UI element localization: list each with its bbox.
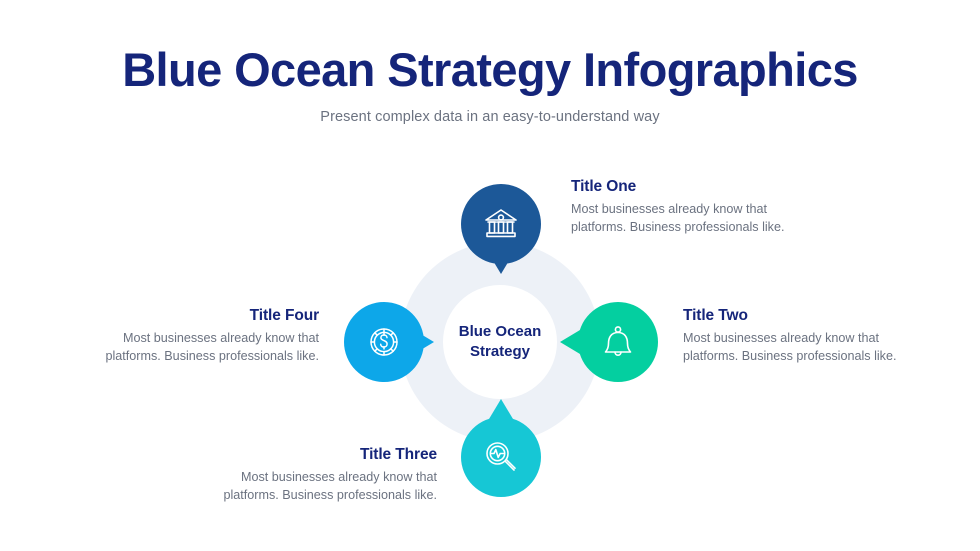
text-block-one: Title One Most businesses already know t… — [571, 178, 871, 237]
node-two-title: Title Two — [683, 307, 980, 325]
node-two[interactable] — [578, 302, 658, 382]
node-four[interactable] — [344, 302, 424, 382]
node-three-title: Title Three — [137, 446, 437, 464]
center-hub-label: Blue Ocean Strategy — [459, 322, 542, 363]
node-three-body: Most businesses already know that platfo… — [137, 469, 437, 505]
node-three[interactable] — [461, 417, 541, 497]
node-one-body: Most businesses already know that platfo… — [571, 201, 871, 237]
node-four-body: Most businesses already know that platfo… — [19, 330, 319, 366]
bell-icon — [578, 302, 658, 382]
center-hub: Blue Ocean Strategy — [443, 285, 557, 399]
node-two-body: Most businesses already know that platfo… — [683, 330, 980, 366]
dollar-coin-icon — [344, 302, 424, 382]
node-one[interactable] — [461, 184, 541, 264]
node-four-title: Title Four — [19, 307, 319, 325]
text-block-four: Title Four Most businesses already know … — [19, 307, 319, 366]
magnifier-pulse-icon — [461, 417, 541, 497]
node-three-pointer — [489, 399, 513, 419]
infographic-slide: Blue Ocean Strategy Infographics Present… — [0, 0, 980, 551]
node-one-title: Title One — [571, 178, 871, 196]
node-two-pointer — [560, 330, 580, 354]
bank-icon — [461, 184, 541, 264]
text-block-three: Title Three Most businesses already know… — [137, 446, 437, 505]
text-block-two: Title Two Most businesses already know t… — [683, 307, 980, 366]
